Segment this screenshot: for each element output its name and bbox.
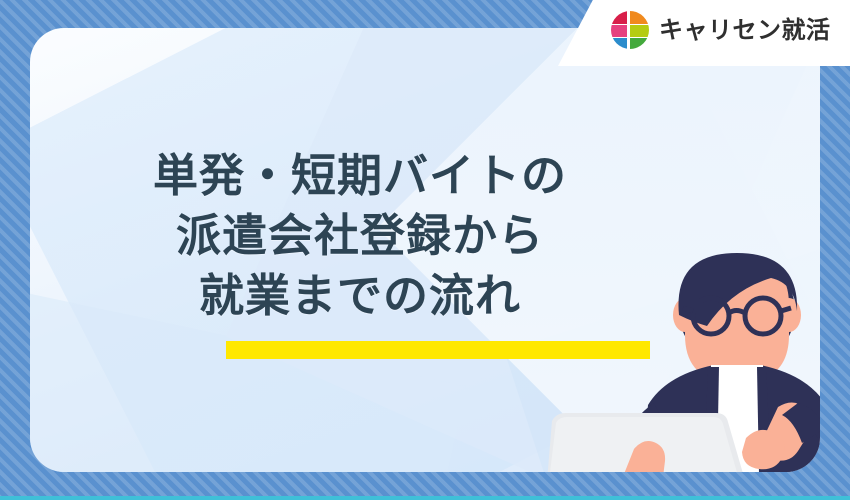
brand-logo-band[interactable]: キャリセン就活 [558, 0, 850, 66]
brand-name: キャリセン就活 [659, 18, 831, 42]
banner-image: 単発・短期バイトの 派遣会社登録から 就業までの流れ [0, 0, 850, 500]
headline-underline-bar [226, 341, 650, 359]
headline-block: 単発・短期バイトの 派遣会社登録から 就業までの流れ [30, 146, 690, 326]
bottom-accent-rule [0, 496, 850, 500]
headline-line-2: 派遣会社登録から [30, 206, 690, 266]
content-card: 単発・短期バイトの 派遣会社登録から 就業までの流れ [30, 28, 820, 472]
headline-line-1: 単発・短期バイトの [30, 146, 690, 206]
headline-line-3: 就業までの流れ [30, 266, 690, 326]
six-segment-circle-logo-icon [610, 10, 650, 50]
